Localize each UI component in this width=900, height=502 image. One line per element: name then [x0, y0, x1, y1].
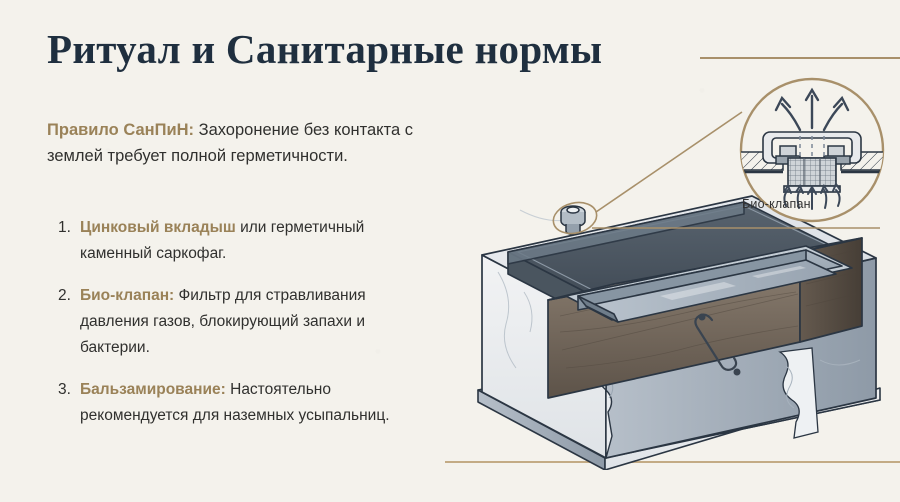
list-item-body: Цинковый вкладыш или герметичный каменны…: [80, 215, 428, 267]
list-item-body: Бальзамирование: Настоятельно рекомендуе…: [80, 377, 428, 429]
list-item: 3. Бальзамирование: Настоятельно рекомен…: [58, 377, 428, 429]
page-title: Ритуал и Санитарные нормы: [47, 25, 602, 73]
list-item-number: 1.: [58, 215, 80, 267]
title-rule-divider: [700, 57, 900, 59]
slide-root: Ритуал и Санитарные нормы Правило СанПиН…: [0, 0, 900, 502]
list-item-number: 3.: [58, 377, 80, 429]
sarcophagus-illustration: [420, 70, 900, 470]
list-item-body: Био-клапан: Фильтр для стравливания давл…: [80, 283, 428, 361]
list-item-label: Био-клапан:: [80, 287, 174, 304]
lead-label: Правило СанПиН:: [47, 121, 194, 139]
list-item: 2. Био-клапан: Фильтр для стравливания д…: [58, 283, 428, 361]
list-item: 1. Цинковый вкладыш или герметичный каме…: [58, 215, 428, 267]
bio-valve-on-coffin: [561, 206, 585, 235]
bio-valve-inset-label: Био-клапан: [742, 197, 811, 211]
list-item-label: Цинковый вкладыш: [80, 219, 236, 236]
lead-paragraph: Правило СанПиН: Захоронение без контакта…: [47, 117, 417, 169]
list-item-number: 2.: [58, 283, 80, 361]
list-item-label: Бальзамирование:: [80, 381, 226, 398]
requirements-list: 1. Цинковый вкладыш или герметичный каме…: [58, 215, 428, 445]
